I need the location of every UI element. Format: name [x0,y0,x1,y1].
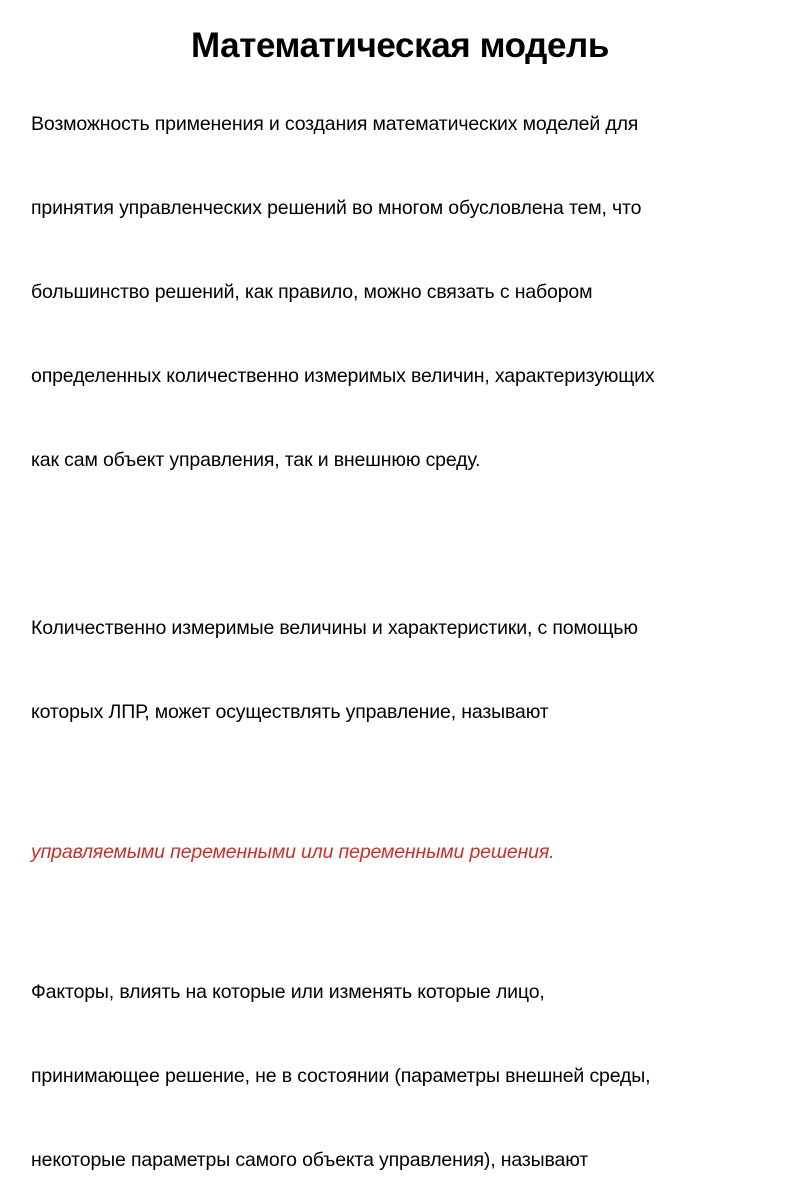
text-line: некоторые параметры самого объекта управ… [31,1146,757,1174]
text-line: Возможность применения и создания матема… [31,110,757,138]
text-line: принятия управленческих решений во много… [31,194,757,222]
paragraph-3: Факторы, влиять на которые или изменять … [31,922,757,1200]
text-line: определенных количественно измеримых вел… [31,362,757,390]
paragraph-spacer [31,530,757,558]
slide: Математическая модель Возможность примен… [0,0,800,600]
text-line: Факторы, влиять на которые или изменять … [31,978,757,1006]
text-line: большинство решений, как правило, можно … [31,278,757,306]
slide-body: Возможность применения и создания матема… [31,54,757,1200]
text-line: Количественно измеримые величины и харак… [31,614,757,642]
text-line: принимающее решение, не в состоянии (пар… [31,1062,757,1090]
paragraph-2-highlight: управляемыми переменными или переменными… [31,782,757,922]
text-line: которых ЛПР, может осуществлять управлен… [31,698,757,726]
paragraph-2: Количественно измеримые величины и харак… [31,558,757,782]
text-line: как сам объект управления, так и внешнюю… [31,446,757,474]
highlight-term-line: управляемыми переменными или переменными… [31,838,757,866]
paragraph-1: Возможность применения и создания матема… [31,54,757,530]
